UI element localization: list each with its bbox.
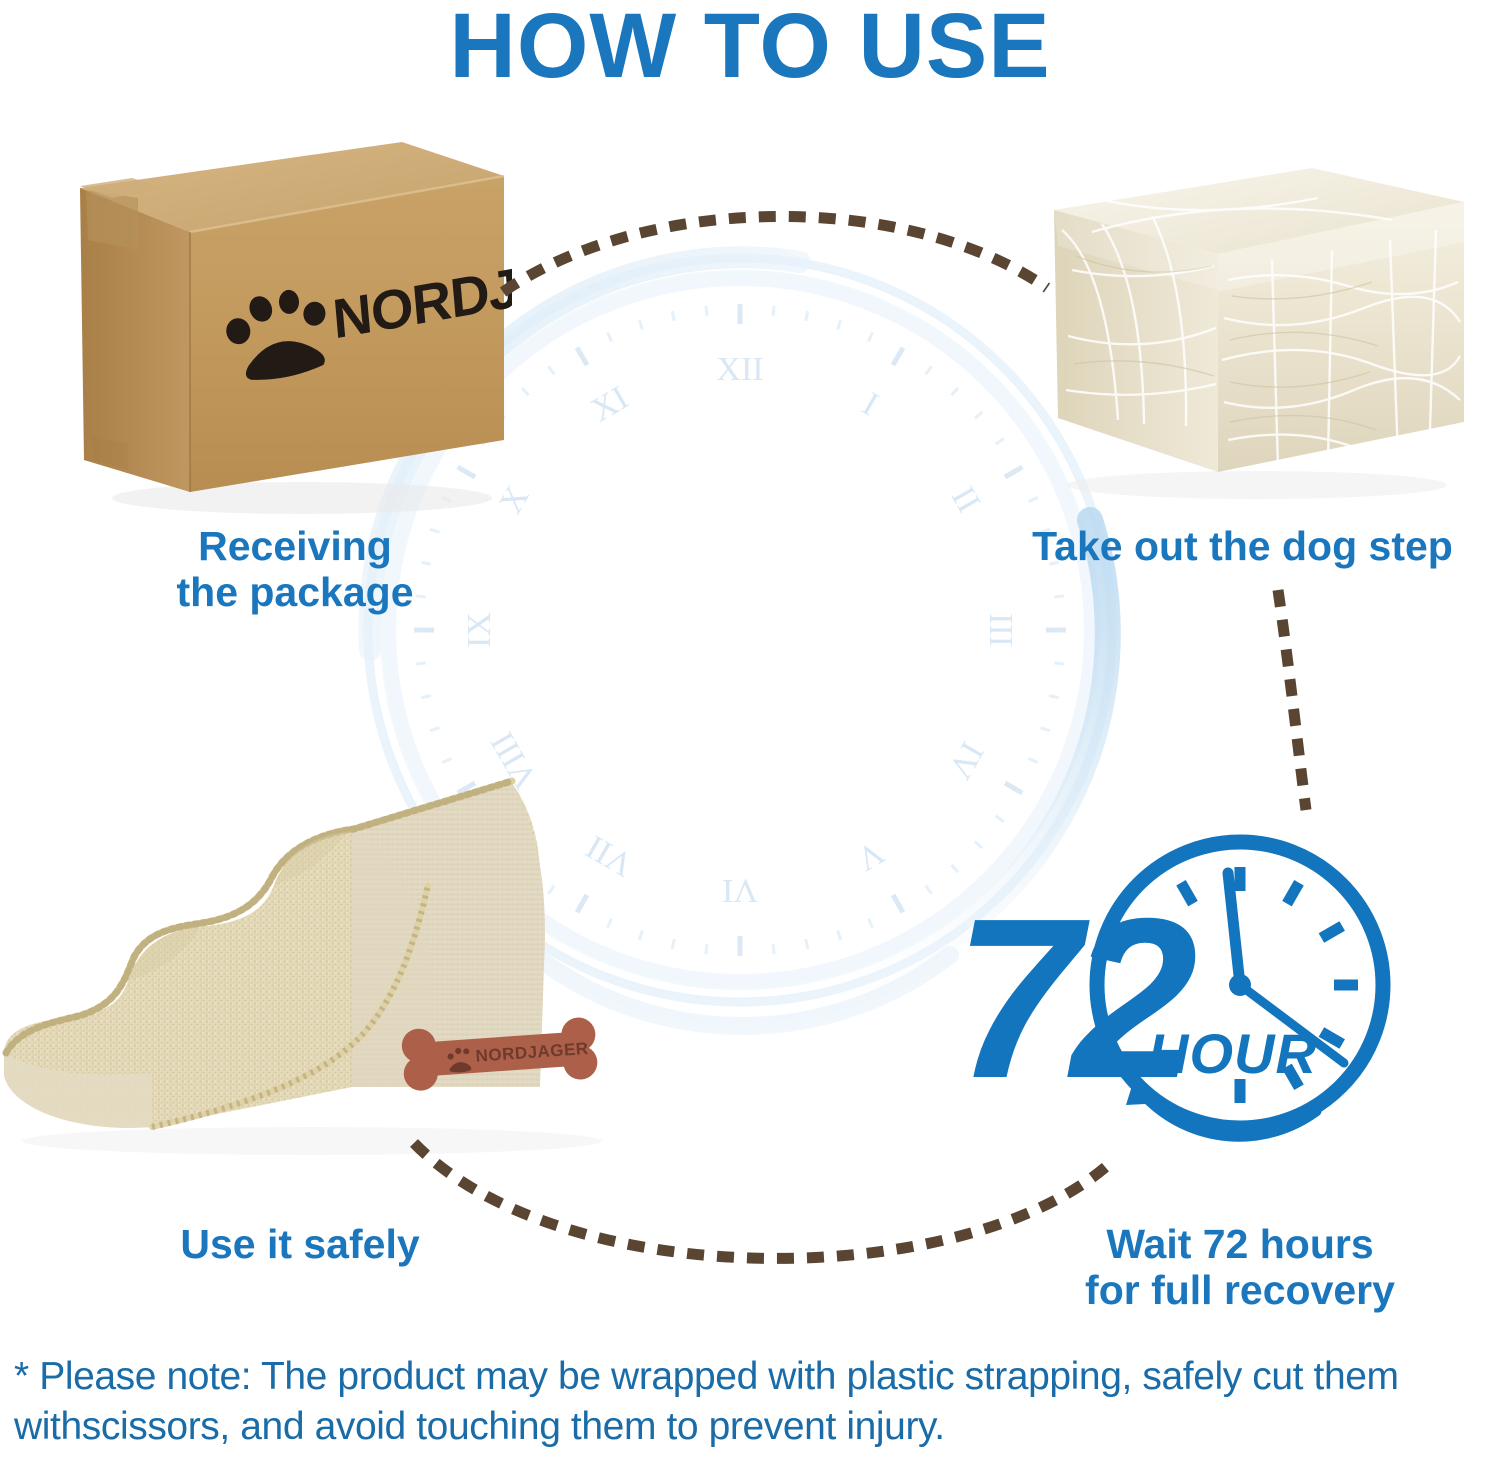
plastic-wrapped-foam-illustration — [1032, 150, 1482, 502]
svg-text:II: II — [944, 481, 987, 519]
svg-text:VI: VI — [722, 872, 758, 909]
clock-number: 72 — [954, 872, 1196, 1126]
page-title: HOW TO USE — [0, 0, 1500, 99]
svg-text:XII: XII — [716, 351, 763, 388]
caption-step-1: Receiving the package — [60, 524, 530, 616]
cardboard-box-illustration: NORDJAGER — [72, 140, 512, 522]
svg-text:III: III — [982, 613, 1019, 647]
svg-text:IV: IV — [940, 735, 990, 785]
svg-text:V: V — [850, 833, 890, 878]
72-hour-clock-illustration: 72 HOUR — [950, 805, 1420, 1175]
caption-step-2: Take out the dog step — [985, 524, 1500, 570]
clock-unit: HOUR — [1148, 1022, 1317, 1085]
caption-step-3: Wait 72 hours for full recovery — [1010, 1222, 1470, 1314]
footnote-note: * Please note: The product may be wrappe… — [14, 1352, 1486, 1451]
caption-step-4: Use it safely — [60, 1222, 540, 1268]
infographic-page: XIIIIIIIIIVVVIVIIVIIIIXXXI HOW TO USE — [0, 0, 1500, 1457]
pet-step-stairs-illustration: NORDJAGER — [0, 735, 642, 1155]
svg-text:I: I — [856, 386, 884, 424]
connector-step2-to-step3 — [1230, 580, 1390, 820]
svg-text:XI: XI — [585, 379, 635, 429]
svg-text:IX: IX — [461, 612, 498, 648]
connector-step1-to-step2 — [495, 180, 1055, 310]
